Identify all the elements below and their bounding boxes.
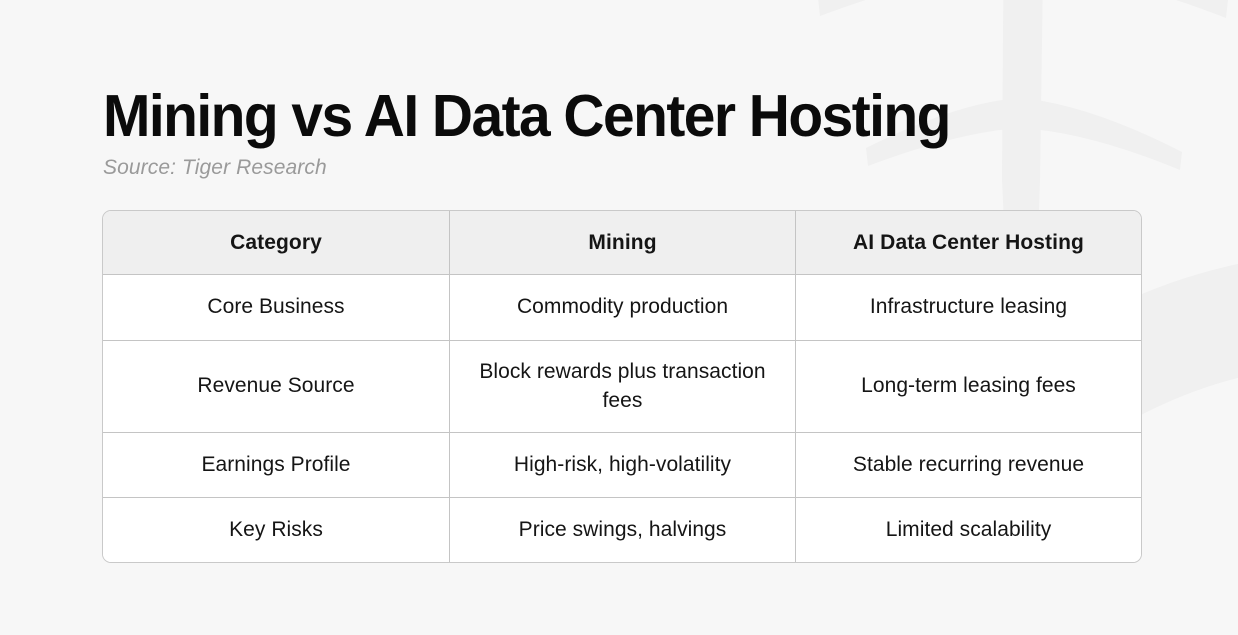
header-block: Mining vs AI Data Center Hosting Source:… [103, 86, 1143, 181]
table-header-row: Category Mining AI Data Center Hosting [103, 211, 1141, 275]
column-header-mining: Mining [449, 211, 795, 275]
table-header: Category Mining AI Data Center Hosting [103, 211, 1141, 275]
cell-category: Revenue Source [103, 340, 449, 432]
table-row: Key Risks Price swings, halvings Limited… [103, 497, 1141, 562]
cell-hosting: Stable recurring revenue [795, 432, 1141, 497]
column-header-category: Category [103, 211, 449, 275]
cell-hosting: Long-term leasing fees [795, 340, 1141, 432]
cell-category: Key Risks [103, 497, 449, 562]
cell-mining: Block rewards plus transaction fees [449, 340, 795, 432]
cell-mining: Commodity production [449, 275, 795, 340]
cell-hosting: Limited scalability [795, 497, 1141, 562]
cell-mining: High-risk, high-volatility [449, 432, 795, 497]
table-row: Revenue Source Block rewards plus transa… [103, 340, 1141, 432]
cell-category: Earnings Profile [103, 432, 449, 497]
column-header-ai-data-center-hosting: AI Data Center Hosting [795, 211, 1141, 275]
slide-canvas: Mining vs AI Data Center Hosting Source:… [0, 0, 1238, 635]
cell-mining: Price swings, halvings [449, 497, 795, 562]
cell-hosting: Infrastructure leasing [795, 275, 1141, 340]
page-title: Mining vs AI Data Center Hosting [103, 86, 1107, 146]
comparison-table: Category Mining AI Data Center Hosting C… [102, 210, 1142, 563]
cell-category: Core Business [103, 275, 449, 340]
table-body: Core Business Commodity production Infra… [103, 275, 1141, 562]
comparison-table-container: Category Mining AI Data Center Hosting C… [102, 210, 1142, 563]
table-row: Core Business Commodity production Infra… [103, 275, 1141, 340]
source-attribution: Source: Tiger Research [103, 155, 1143, 181]
table-row: Earnings Profile High-risk, high-volatil… [103, 432, 1141, 497]
